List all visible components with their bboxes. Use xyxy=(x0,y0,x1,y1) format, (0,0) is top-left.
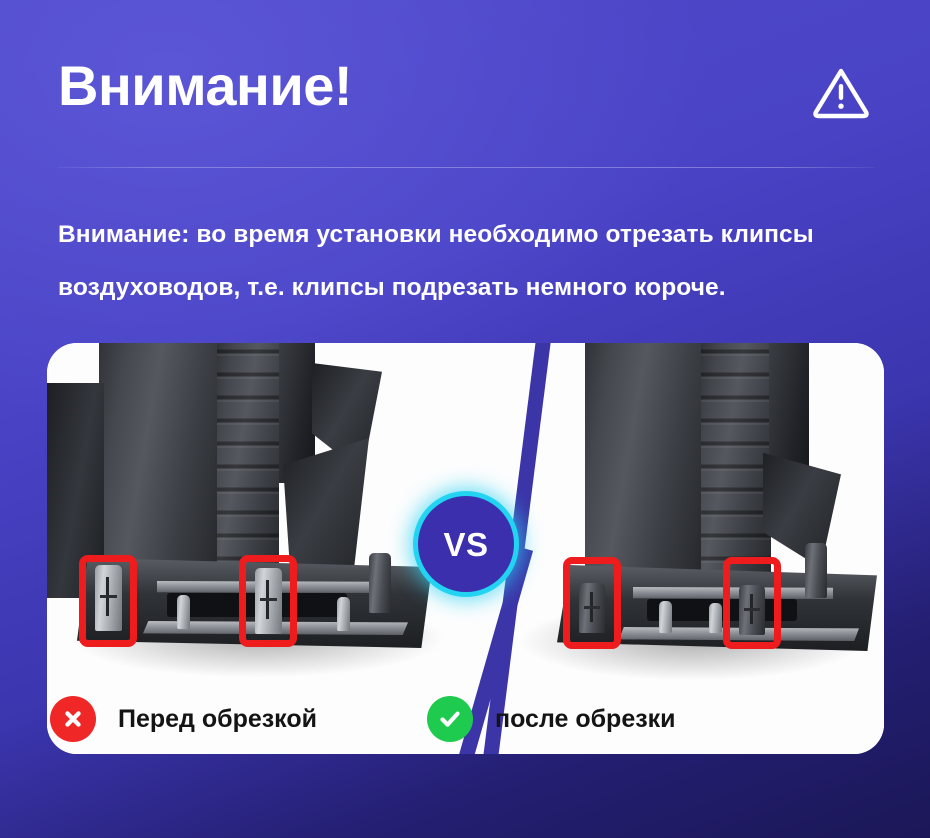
after-photo-image xyxy=(487,343,884,754)
after-photo xyxy=(487,343,884,754)
highlight-box xyxy=(239,555,297,647)
highlight-box xyxy=(723,557,781,649)
caption-after-label: после обрезки xyxy=(495,705,676,734)
warning-triangle-icon xyxy=(810,62,872,124)
vs-badge: VS xyxy=(418,496,514,592)
caption-before: Перед обрезкой xyxy=(50,696,317,742)
header-divider xyxy=(58,167,875,168)
page-title: Внимание! xyxy=(58,58,352,114)
check-circle-icon xyxy=(427,696,473,742)
cross-circle-icon xyxy=(50,696,96,742)
highlight-box xyxy=(563,557,621,649)
promo-banner: Внимание! Внимание: во время установки н… xyxy=(0,0,930,838)
instruction-text: Внимание: во время установки необходимо … xyxy=(58,208,888,314)
comparison-card: VS xyxy=(47,343,884,754)
header: Внимание! xyxy=(0,0,930,175)
highlight-box xyxy=(79,555,137,647)
caption-before-label: Перед обрезкой xyxy=(118,705,317,734)
vs-label: VS xyxy=(443,528,488,561)
caption-after: после обрезки xyxy=(427,696,676,742)
